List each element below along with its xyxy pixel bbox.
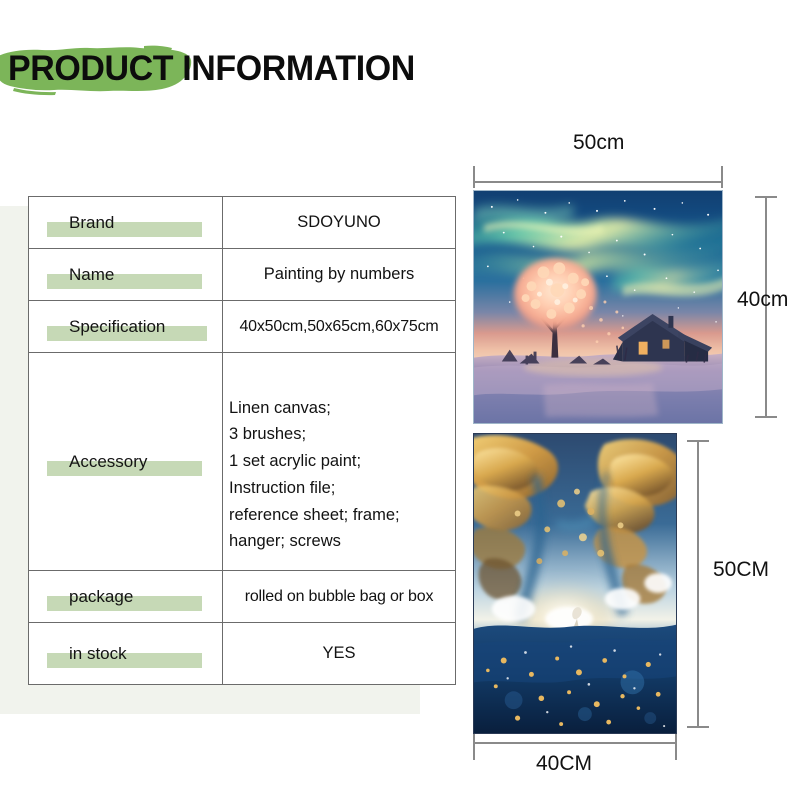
golden-forest-painting-image — [473, 433, 677, 734]
dim-tick-top-h-upper — [755, 196, 777, 198]
page-title-block: PRODUCT INFORMATION — [0, 40, 430, 102]
spec-label-in-stock: in stock — [29, 623, 223, 685]
spec-label-brand: Brand — [29, 197, 223, 249]
product-information-page: PRODUCT INFORMATION Brand SDOYUNO — [0, 0, 800, 800]
product-spec-table: Brand SDOYUNO Name Painting by numbers — [28, 196, 456, 685]
table-row: Name Painting by numbers — [29, 249, 456, 301]
page-title: PRODUCT INFORMATION — [8, 49, 415, 89]
aurora-cabin-painting-image — [473, 190, 723, 424]
table-row: Brand SDOYUNO — [29, 197, 456, 249]
dim-tick-bottom-h-upper — [687, 440, 709, 442]
spec-value-name: Painting by numbers — [223, 249, 456, 301]
spec-value-brand: SDOYUNO — [223, 197, 456, 249]
dim-tick-bottom-left — [473, 734, 475, 760]
spec-value-package: rolled on bubble bag or box — [223, 571, 456, 623]
dim-label-bottom-height: 50CM — [713, 558, 769, 582]
table-row: Specification 40x50cm,50x65cm,60x75cm — [29, 301, 456, 353]
dim-label-top-width: 50cm — [573, 131, 624, 155]
table-row: package rolled on bubble bag or box — [29, 571, 456, 623]
spec-label-package: package — [29, 571, 223, 623]
spec-label-specification: Specification — [29, 301, 223, 353]
dim-tick-top-left — [473, 166, 475, 188]
dim-label-bottom-width: 40CM — [536, 752, 592, 776]
spec-label-name: Name — [29, 249, 223, 301]
spec-label-accessory: Accessory — [29, 353, 223, 571]
dim-tick-bottom-right — [675, 734, 677, 760]
spec-value-in-stock: YES — [223, 623, 456, 685]
accessory-line-list: Linen canvas; 3 brushes; 1 set acrylic p… — [229, 372, 449, 555]
dim-line-top-width — [473, 181, 723, 183]
table-row: in stock YES — [29, 623, 456, 685]
spec-value-specification: 40x50cm,50x65cm,60x75cm — [223, 301, 456, 353]
dim-tick-top-right — [721, 166, 723, 188]
spec-value-accessory: Linen canvas; 3 brushes; 1 set acrylic p… — [223, 353, 456, 571]
dim-tick-bottom-h-lower — [687, 726, 709, 728]
table-row: Accessory Linen canvas; 3 brushes; 1 set… — [29, 353, 456, 571]
dim-line-bottom-width — [473, 742, 677, 744]
dim-label-top-height: 40cm — [737, 288, 788, 312]
dim-line-bottom-height — [697, 440, 699, 728]
dim-tick-top-h-lower — [755, 416, 777, 418]
